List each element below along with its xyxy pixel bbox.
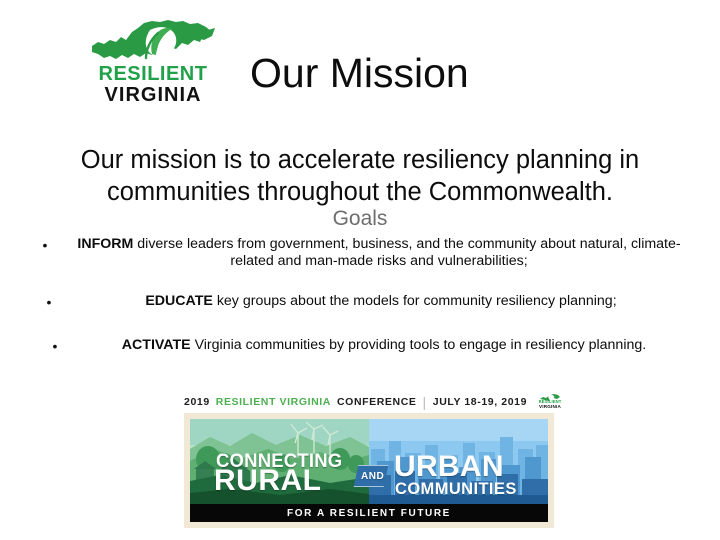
goal-body: key groups about the models for communit… xyxy=(213,293,617,309)
banner-tagline-bar: FOR A RESILIENT FUTURE xyxy=(190,504,548,522)
bullet-icon: • xyxy=(44,337,66,355)
logo-word-virginia: VIRGINIA xyxy=(89,85,217,105)
list-item: • EDUCATE key groups about the models fo… xyxy=(38,293,690,313)
conference-separator: | xyxy=(423,394,427,410)
conference-year: 2019 xyxy=(184,396,210,408)
resilient-virginia-logo: RESILIENT VIRGINIA xyxy=(88,18,218,108)
goal-keyword: ACTIVATE xyxy=(122,337,191,353)
goals-heading: Goals xyxy=(0,207,720,231)
bullet-icon: • xyxy=(34,236,56,254)
banner-tagline: FOR A RESILIENT FUTURE xyxy=(287,508,451,519)
banner-word-communities: COMMUNITIES xyxy=(395,481,517,498)
mission-statement: Our mission is to accelerate resiliency … xyxy=(36,144,684,208)
goal-body: diverse leaders from government, busines… xyxy=(133,236,680,269)
slide-header: RESILIENT VIRGINIA Our Mission xyxy=(0,14,720,110)
conference-dates: JULY 18-19, 2019 xyxy=(433,396,527,408)
virginia-leaf-logo-icon xyxy=(88,18,218,66)
conference-banner: 2019 RESILIENT VIRGINIA CONFERENCE | JUL… xyxy=(184,391,554,528)
banner-word-urban: URBAN xyxy=(394,452,504,482)
conference-org: RESILIENT VIRGINIA xyxy=(216,396,331,408)
conference-mini-logo: RESILIENT VIRGINIA xyxy=(533,393,554,411)
goal-keyword: INFORM xyxy=(77,236,133,252)
goal-body: Virginia communities by providing tools … xyxy=(191,337,647,353)
mini-logo-word-virginia: VIRGINIA xyxy=(533,405,567,410)
page-title: Our Mission xyxy=(250,50,580,97)
list-item: • INFORM diverse leaders from government… xyxy=(34,236,690,270)
goal-text: INFORM diverse leaders from government, … xyxy=(68,236,690,270)
banner-artwork: CONNECTING RURAL AND URBAN COMMUNITIES F… xyxy=(190,419,548,522)
goal-text: ACTIVATE Virginia communities by providi… xyxy=(78,337,690,354)
bullet-icon: • xyxy=(38,293,60,311)
conference-headline: 2019 RESILIENT VIRGINIA CONFERENCE | JUL… xyxy=(184,391,554,413)
banner-word-and: AND xyxy=(361,471,384,482)
list-item: • ACTIVATE Virginia communities by provi… xyxy=(44,337,690,357)
goal-text: EDUCATE key groups about the models for … xyxy=(72,293,690,310)
banner-frame: CONNECTING RURAL AND URBAN COMMUNITIES F… xyxy=(184,413,554,528)
conference-word: CONFERENCE xyxy=(337,396,417,408)
goal-keyword: EDUCATE xyxy=(145,293,213,309)
logo-word-resilient: RESILIENT xyxy=(89,64,217,84)
banner-word-rural: RURAL xyxy=(214,466,322,496)
